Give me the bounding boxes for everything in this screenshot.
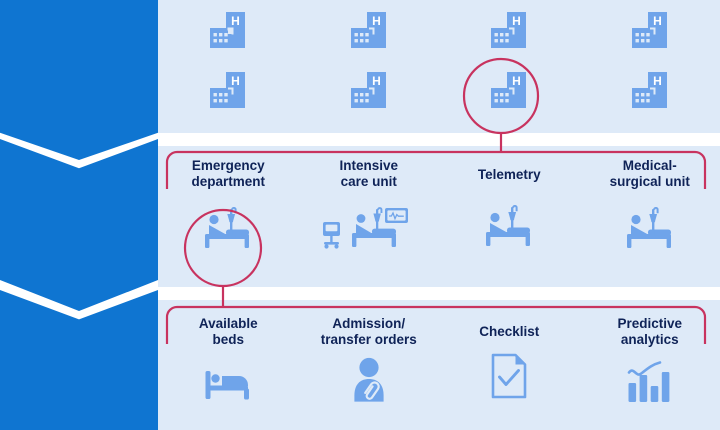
department-item-intensive-care-unit[interactable]: Intensive care unit — [299, 146, 440, 287]
person-clipboard-icon — [346, 356, 392, 404]
patient-bed-iv-icon — [619, 204, 681, 250]
hospital-cell-1[interactable]: H — [158, 8, 299, 56]
rail-section-department-unit-view[interactable] — [0, 139, 158, 311]
document-check-icon — [489, 353, 529, 399]
hospital-cell-4[interactable]: H — [580, 8, 720, 56]
hospital-icon: H — [204, 68, 252, 116]
svg-text:H: H — [653, 74, 662, 88]
hospital-row-top: H — [158, 8, 720, 56]
svg-text:H: H — [512, 74, 521, 88]
department-label-medical-surgical-unit: Medical- surgical unit — [610, 158, 690, 190]
department-label-emergency-department: Emergency department — [191, 158, 265, 190]
rail-section-patient-view[interactable] — [0, 290, 158, 430]
patient-label-predictive-analytics: Predictive analytics — [617, 316, 682, 348]
department-unit-view-panel: Emergency department — [158, 146, 720, 287]
svg-text:H: H — [231, 74, 240, 88]
department-item-emergency-department[interactable]: Emergency department — [158, 146, 299, 287]
rail-section-enterprise-view[interactable] — [0, 0, 158, 160]
department-item-medical-surgical-unit[interactable]: Medical- surgical unit — [580, 146, 720, 287]
svg-text:H: H — [512, 14, 521, 28]
svg-text:H: H — [653, 14, 662, 28]
hospital-cell-7-highlighted[interactable]: H — [439, 68, 580, 116]
patient-columns: Available beds Admission/ transfer o — [158, 300, 720, 430]
enterprise-view-panel: H — [158, 0, 720, 133]
bed-person-icon — [197, 362, 259, 404]
patient-item-predictive-analytics[interactable]: Predictive analytics — [580, 300, 720, 430]
hospital-row-bottom: H H — [158, 68, 720, 116]
hospital-icon: H — [485, 68, 533, 116]
hospital-icon: H — [204, 8, 252, 56]
patient-item-admission-transfer-orders[interactable]: Admission/ transfer orders — [299, 300, 440, 430]
hospital-icon: H — [485, 8, 533, 56]
bar-chart-trend-icon — [626, 360, 674, 404]
patient-item-checklist[interactable]: Checklist — [439, 300, 580, 430]
hospital-cell-6[interactable]: H — [299, 68, 440, 116]
hospital-cell-2[interactable]: H — [299, 8, 440, 56]
hospital-cell-3[interactable]: H — [439, 8, 580, 56]
hospital-icon: H — [626, 8, 674, 56]
department-columns: Emergency department — [158, 146, 720, 287]
view-level-rail: Enterprise view Department/ unit view Pa… — [0, 0, 158, 430]
hospital-icon: H — [345, 8, 393, 56]
svg-text:H: H — [231, 14, 240, 28]
patient-label-checklist: Checklist — [479, 324, 539, 340]
patient-item-available-beds[interactable]: Available beds — [158, 300, 299, 430]
hospital-cell-5[interactable]: H — [158, 68, 299, 116]
hospital-cell-8[interactable]: H — [580, 68, 720, 116]
patient-view-panel: Available beds Admission/ transfer o — [158, 300, 720, 430]
patient-label-available-beds: Available beds — [199, 316, 258, 348]
department-item-telemetry[interactable]: Telemetry — [439, 146, 580, 287]
patient-bed-iv-icon — [197, 204, 259, 250]
patient-label-admission-transfer-orders: Admission/ transfer orders — [321, 316, 417, 348]
diagram-canvas: Enterprise view Department/ unit view Pa… — [0, 0, 720, 430]
department-label-intensive-care-unit: Intensive care unit — [339, 158, 398, 190]
svg-text:H: H — [372, 14, 381, 28]
patient-bed-monitor-icon — [321, 204, 417, 254]
svg-text:H: H — [372, 74, 381, 88]
department-label-telemetry: Telemetry — [478, 167, 541, 183]
hospital-icon: H — [345, 68, 393, 116]
patient-bed-iv-icon — [478, 202, 540, 248]
hospital-icon: H — [626, 68, 674, 116]
